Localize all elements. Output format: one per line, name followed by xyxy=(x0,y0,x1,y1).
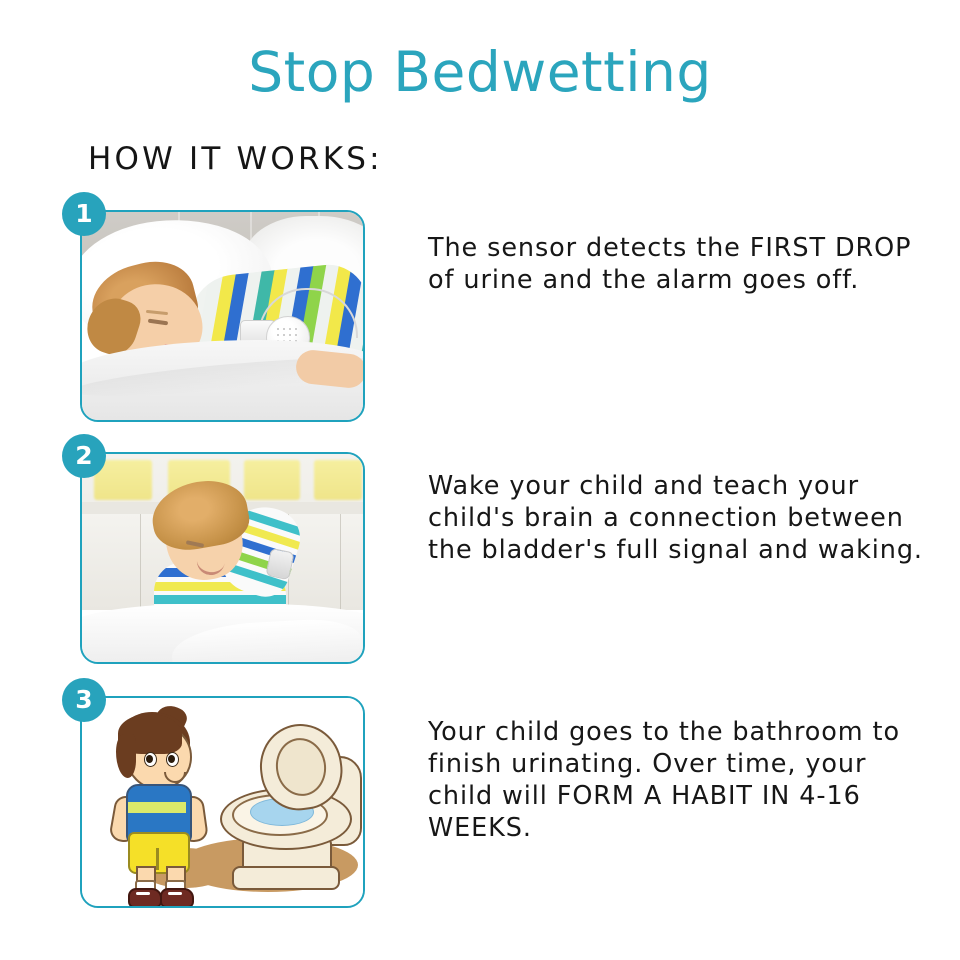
page-title: Stop Bedwetting xyxy=(0,40,960,104)
step-1-description: The sensor detects the FIRST DROP of uri… xyxy=(428,232,928,296)
section-heading: HOW IT WORKS: xyxy=(88,140,383,178)
step-number-badge-2: 2 xyxy=(62,434,106,478)
sleeping-child-with-sensor-photo xyxy=(82,212,363,420)
infographic-page: Stop Bedwetting HOW IT WORKS: xyxy=(0,0,960,960)
step-2-image-frame xyxy=(80,452,365,664)
step-3-image-frame xyxy=(80,696,365,908)
step-3-description: Your child goes to the bathroom to finis… xyxy=(428,716,928,844)
step-2-description: Wake your child and teach your child's b… xyxy=(428,470,928,566)
child-waking-up-photo xyxy=(82,454,363,662)
step-number-badge-3: 3 xyxy=(62,678,106,722)
child-at-toilet-illustration xyxy=(82,698,363,906)
step-1-image-frame xyxy=(80,210,365,422)
step-number-badge-1: 1 xyxy=(62,192,106,236)
